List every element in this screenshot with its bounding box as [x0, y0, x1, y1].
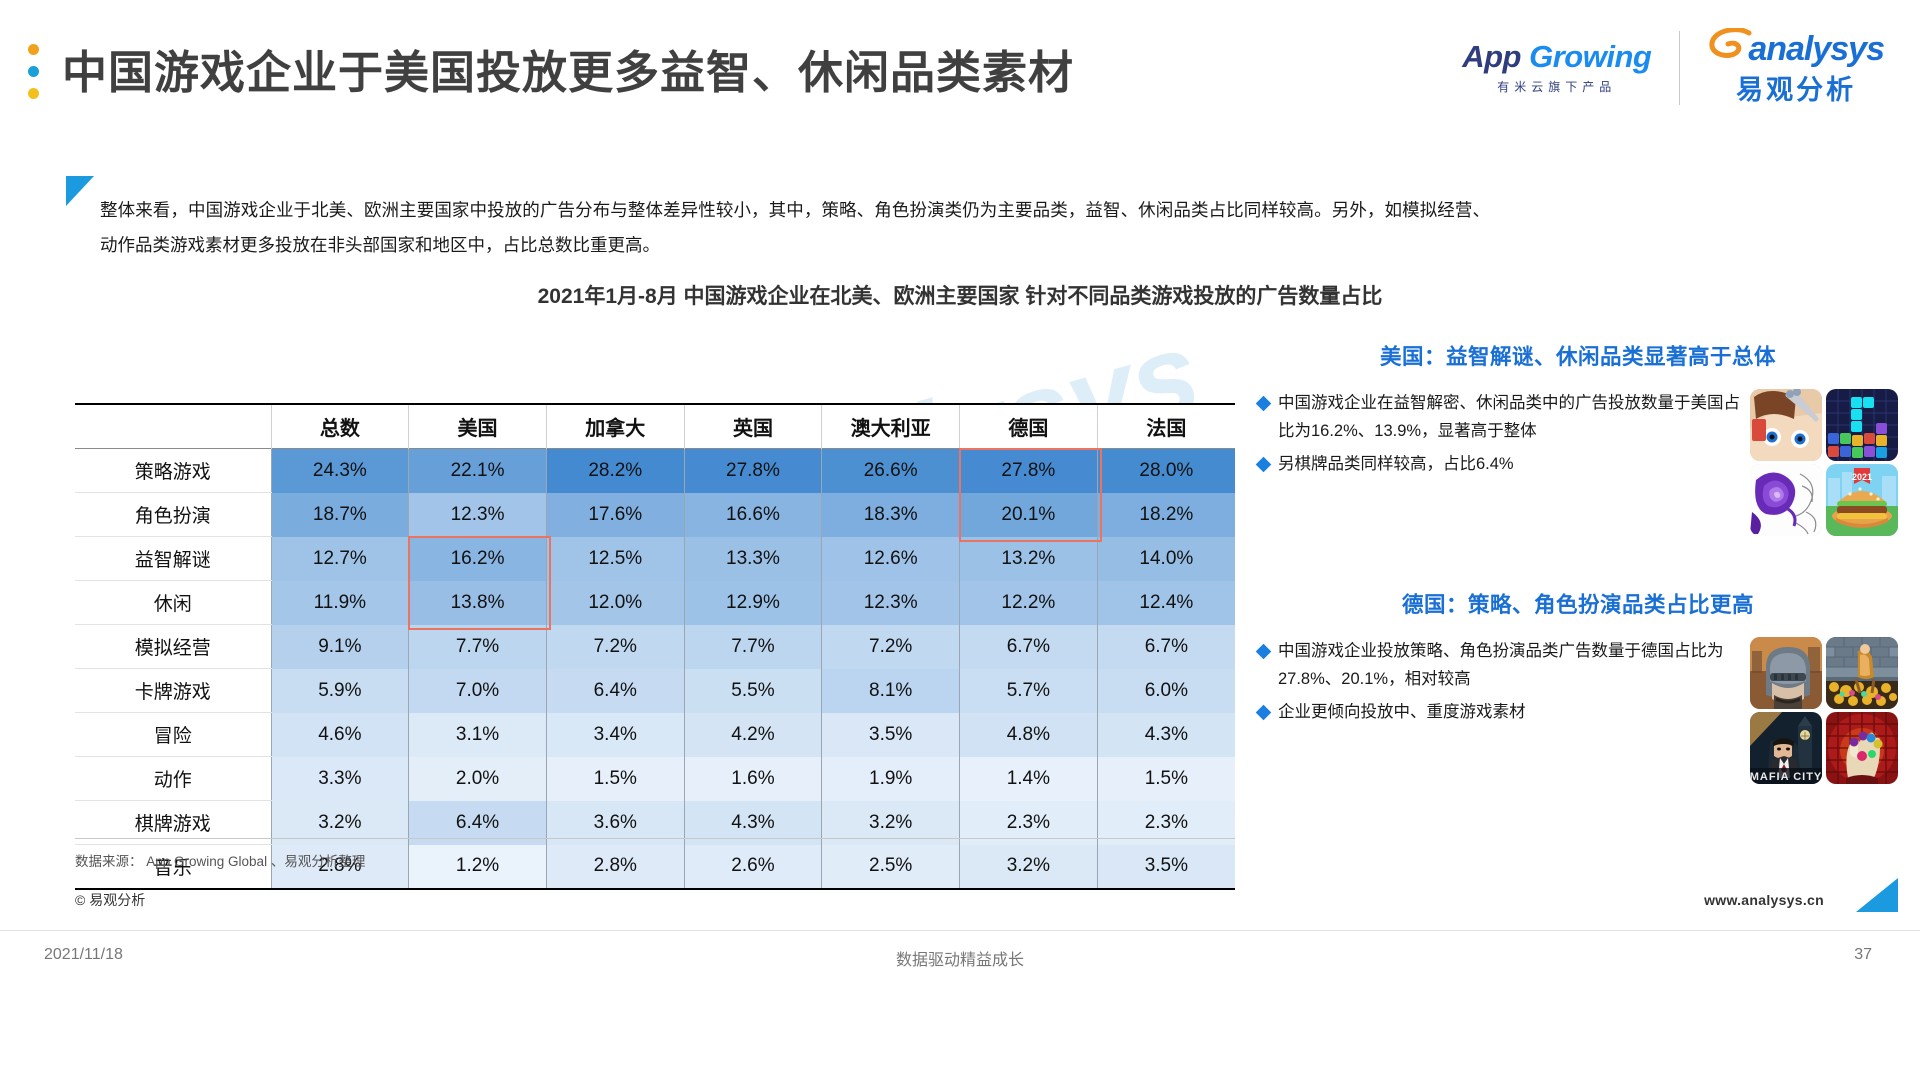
panel-us-heading: 美国：益智解谜、休闲品类显著高于总体	[1258, 340, 1898, 371]
source-note: 数据来源： App Growing Global 、易观分析整理	[75, 838, 1235, 870]
table-cell: 4.8%	[960, 713, 1098, 757]
table-cell: 26.6%	[822, 449, 960, 493]
analysys-swoosh-icon	[1708, 28, 1752, 66]
table-row-label: 休闲	[75, 581, 271, 625]
table-cell: 28.2%	[546, 449, 684, 493]
footer-slogan: 数据驱动精益成长	[0, 946, 1920, 970]
war-helmet-game-icon	[1750, 637, 1822, 709]
table-cell: 16.6%	[684, 493, 822, 537]
table-row: 休闲11.9%13.8%12.0%12.9%12.3%12.2%12.4%	[75, 581, 1235, 625]
panel-de: 德国：策略、角色扮演品类占比更高 中国游戏企业投放策略、角色扮演品类广告数量于德…	[1258, 588, 1898, 784]
analysys-word: analysys	[1748, 32, 1884, 66]
website-url: www.analysys.cn	[1704, 892, 1824, 908]
ad-category-share-table: 总数美国加拿大英国澳大利亚德国法国 策略游戏24.3%22.1%28.2%27.…	[75, 403, 1235, 890]
intro-arrow-icon	[66, 176, 94, 206]
dot-yellow-icon	[28, 88, 39, 99]
table-cell: 4.6%	[271, 713, 409, 757]
table-col-header-7: 法国	[1097, 404, 1235, 449]
panel-de-bullets: 中国游戏企业投放策略、角色扮演品类广告数量于德国占比为27.8%、20.1%，相…	[1258, 637, 1740, 730]
table-header-row: 总数美国加拿大英国澳大利亚德国法国	[75, 404, 1235, 449]
table-cell: 13.8%	[409, 581, 547, 625]
table-cell: 14.0%	[1097, 537, 1235, 581]
table-cell: 12.6%	[822, 537, 960, 581]
block-puzzle-game-icon	[1826, 389, 1898, 461]
table-cell: 7.2%	[822, 625, 960, 669]
table-cell: 1.5%	[1097, 757, 1235, 801]
list-item: 中国游戏企业在益智解密、休闲品类中的广告投放数量于美国占比为16.2%、13.9…	[1258, 389, 1740, 446]
logo-group: App Growing 有米云旗下产品 analysys 易观分析	[1462, 28, 1884, 107]
table-row: 动作3.3%2.0%1.5%1.6%1.9%1.4%1.5%	[75, 757, 1235, 801]
table-row: 卡牌游戏5.9%7.0%6.4%5.5%8.1%5.7%6.0%	[75, 669, 1235, 713]
table-cell: 9.1%	[271, 625, 409, 669]
table-col-header-4: 英国	[684, 404, 822, 449]
table-cell: 7.2%	[546, 625, 684, 669]
diamond-bullet-icon	[1256, 644, 1272, 660]
table-cell: 6.4%	[546, 669, 684, 713]
table-cell: 3.3%	[271, 757, 409, 801]
table-cell: 4.2%	[684, 713, 822, 757]
table-cell: 13.3%	[684, 537, 822, 581]
table-col-header-3: 加拿大	[546, 404, 684, 449]
table-cell: 8.1%	[822, 669, 960, 713]
table-col-header-2: 美国	[409, 404, 547, 449]
table-cell: 17.6%	[546, 493, 684, 537]
burger-city-2021-game-icon: 2021	[1826, 464, 1898, 536]
table-cell: 7.7%	[684, 625, 822, 669]
table-col-header-1: 总数	[271, 404, 409, 449]
table-row-label: 策略游戏	[75, 449, 271, 493]
table-cell: 5.9%	[271, 669, 409, 713]
svg-text:MAFIA CITY: MAFIA CITY	[1750, 771, 1822, 783]
table-cell: 5.7%	[960, 669, 1098, 713]
table-body: 策略游戏24.3%22.1%28.2%27.8%26.6%27.8%28.0%角…	[75, 449, 1235, 890]
table-row: 冒险4.6%3.1%3.4%4.2%3.5%4.8%4.3%	[75, 713, 1235, 757]
table-cell: 12.4%	[1097, 581, 1235, 625]
diamond-bullet-icon	[1256, 704, 1272, 720]
dot-orange-icon	[28, 44, 39, 55]
analysys-subtitle: 易观分析	[1736, 68, 1856, 107]
table-row-label: 动作	[75, 757, 271, 801]
appgrowing-subtitle: 有米云旗下产品	[1497, 78, 1616, 95]
bullet-text: 中国游戏企业在益智解密、休闲品类中的广告投放数量于美国占比为16.2%、13.9…	[1278, 389, 1740, 446]
hair-salon-game-icon	[1750, 389, 1822, 461]
table-cell: 22.1%	[409, 449, 547, 493]
table-row: 模拟经营9.1%7.7%7.2%7.7%7.2%6.7%6.7%	[75, 625, 1235, 669]
table-col-header-6: 德国	[960, 404, 1098, 449]
table-cell: 6.0%	[1097, 669, 1235, 713]
bullet-text: 中国游戏企业投放策略、角色扮演品类广告数量于德国占比为27.8%、20.1%，相…	[1278, 637, 1740, 694]
table-cell: 27.8%	[960, 449, 1098, 493]
analysys-wordmark-row: analysys	[1708, 28, 1884, 66]
coloring-rose-game-icon	[1750, 464, 1822, 536]
analysys-logo: analysys 易观分析	[1680, 28, 1884, 107]
bullet-text: 企业更倾向投放中、重度游戏素材	[1278, 698, 1526, 726]
table-cell: 1.9%	[822, 757, 960, 801]
panel-de-thumbnails: MAFIA CITY	[1750, 637, 1898, 784]
list-item: 中国游戏企业投放策略、角色扮演品类广告数量于德国占比为27.8%、20.1%，相…	[1258, 637, 1740, 694]
table-cell: 18.2%	[1097, 493, 1235, 537]
table-cell: 1.4%	[960, 757, 1098, 801]
table-row-label: 益智解谜	[75, 537, 271, 581]
panel-us: 美国：益智解谜、休闲品类显著高于总体 中国游戏企业在益智解密、休闲品类中的广告投…	[1258, 340, 1898, 536]
panel-de-heading: 德国：策略、角色扮演品类占比更高	[1258, 588, 1898, 619]
svg-text:2021: 2021	[1851, 472, 1871, 482]
table-cell: 2.0%	[409, 757, 547, 801]
table-cell: 13.2%	[960, 537, 1098, 581]
table-row: 策略游戏24.3%22.1%28.2%27.8%26.6%27.8%28.0%	[75, 449, 1235, 493]
table-cell: 18.7%	[271, 493, 409, 537]
table-cell: 3.4%	[546, 713, 684, 757]
table-cell: 6.7%	[960, 625, 1098, 669]
table-cell: 18.3%	[822, 493, 960, 537]
header-dots-decoration	[28, 44, 39, 99]
table-cell: 20.1%	[960, 493, 1098, 537]
intro-paragraph: 整体来看，中国游戏企业于北美、欧洲主要国家中投放的广告分布与整体差异性较小，其中…	[100, 193, 1490, 263]
table-row: 益智解谜12.7%16.2%12.5%13.3%12.6%13.2%14.0%	[75, 537, 1235, 581]
table-cell: 28.0%	[1097, 449, 1235, 493]
mafia-city-game-icon: MAFIA CITY	[1750, 712, 1822, 784]
list-item: 另棋牌品类同样较高，占比6.4%	[1258, 450, 1740, 478]
panel-us-bullets: 中国游戏企业在益智解密、休闲品类中的广告投放数量于美国占比为16.2%、13.9…	[1258, 389, 1740, 482]
table-row: 角色扮演18.7%12.3%17.6%16.6%18.3%20.1%18.2%	[75, 493, 1235, 537]
appgrowing-wordmark: App Growing	[1462, 41, 1651, 72]
panel-us-body: 中国游戏企业在益智解密、休闲品类中的广告投放数量于美国占比为16.2%、13.9…	[1258, 389, 1898, 536]
table-row-label: 冒险	[75, 713, 271, 757]
table-cell: 12.5%	[546, 537, 684, 581]
table-col-header-blank	[75, 404, 271, 449]
diamond-bullet-icon	[1256, 396, 1272, 412]
table-cell: 12.2%	[960, 581, 1098, 625]
table-cell: 6.7%	[1097, 625, 1235, 669]
data-table-container: 总数美国加拿大英国澳大利亚德国法国 策略游戏24.3%22.1%28.2%27.…	[75, 403, 1235, 890]
panel-de-body: 中国游戏企业投放策略、角色扮演品类广告数量于德国占比为27.8%、20.1%，相…	[1258, 637, 1898, 784]
panel-us-thumbnails: 2021	[1750, 389, 1898, 536]
dot-blue-icon	[28, 66, 39, 77]
bullet-text: 另棋牌品类同样较高，占比6.4%	[1278, 450, 1514, 478]
table-row-label: 模拟经营	[75, 625, 271, 669]
diamond-bullet-icon	[1256, 456, 1272, 472]
corner-triangle-decoration	[1856, 878, 1898, 912]
table-cell: 3.5%	[822, 713, 960, 757]
footer-page-number: 37	[1854, 946, 1872, 964]
table-cell: 1.5%	[546, 757, 684, 801]
table-col-header-5: 澳大利亚	[822, 404, 960, 449]
chart-title: 2021年1月-8月 中国游戏企业在北美、欧洲主要国家 针对不同品类游戏投放的广…	[0, 280, 1920, 310]
table-cell: 4.3%	[1097, 713, 1235, 757]
king-throne-game-icon	[1826, 637, 1898, 709]
footer-divider	[0, 930, 1920, 931]
page-title: 中国游戏企业于美国投放更多益智、休闲品类素材	[62, 36, 1074, 101]
list-item: 企业更倾向投放中、重度游戏素材	[1258, 698, 1740, 726]
table-cell: 1.6%	[684, 757, 822, 801]
slide-root: 中国游戏企业于美国投放更多益智、休闲品类素材 App Growing 有米云旗下…	[0, 0, 1920, 1080]
table-cell: 7.7%	[409, 625, 547, 669]
table-cell: 12.3%	[409, 493, 547, 537]
table-cell: 12.0%	[546, 581, 684, 625]
table-cell: 11.9%	[271, 581, 409, 625]
table-cell: 12.9%	[684, 581, 822, 625]
copyright: © 易观分析	[75, 890, 145, 910]
table-row-label: 角色扮演	[75, 493, 271, 537]
table-cell: 7.0%	[409, 669, 547, 713]
monster-hand-game-icon	[1826, 712, 1898, 784]
table-cell: 12.7%	[271, 537, 409, 581]
table-cell: 16.2%	[409, 537, 547, 581]
table-cell: 3.1%	[409, 713, 547, 757]
appgrowing-logo: App Growing 有米云旗下产品	[1462, 41, 1679, 95]
table-cell: 27.8%	[684, 449, 822, 493]
table-cell: 5.5%	[684, 669, 822, 713]
table-cell: 12.3%	[822, 581, 960, 625]
table-row-label: 卡牌游戏	[75, 669, 271, 713]
table-cell: 24.3%	[271, 449, 409, 493]
